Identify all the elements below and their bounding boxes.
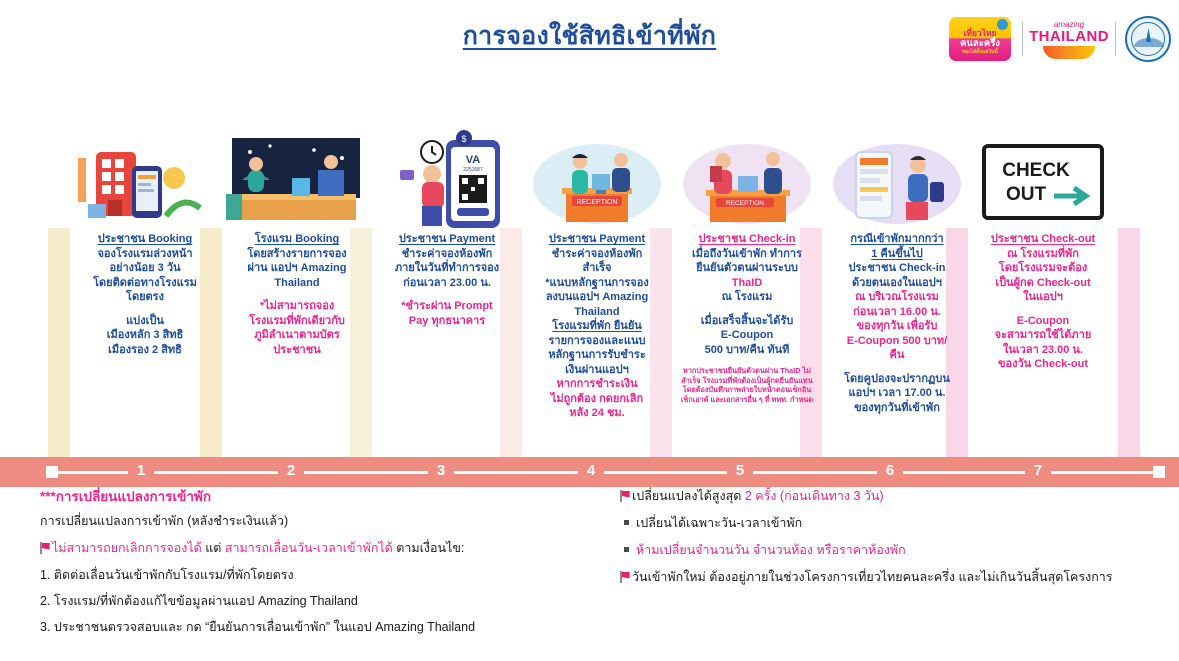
amazing-smile-icon [1043, 46, 1095, 59]
amazing-thailand-logo: amazing THAILAND [1032, 16, 1106, 62]
column-6-heading-line-1: กรณีเข้าพักมากกว่า [822, 232, 972, 247]
column-2-line-6: โรงแรมที่พักเดียวกับ [222, 314, 372, 329]
column-7-spacer [968, 305, 1118, 314]
footer-list-item-2: 2. โรงแรม/ที่พักต้องแก้ไขข้อมูลผ่านแอป A… [40, 592, 610, 610]
column-7-line-2: โดยโรงแรมจะต้อง [968, 261, 1118, 276]
column-7-line-7: จะสามารถใช้ได้ภาย [968, 328, 1118, 343]
column-2-line-7: ภูมิลำเนาตามบัตร [222, 328, 372, 343]
max-change-label: เปลี่ยนแปลงได้สูงสุด [632, 489, 745, 503]
column-4-line-6: โรงแรมที่พัก ยืนยัน [522, 319, 672, 334]
column-7-line-4: ในแอปฯ [968, 290, 1118, 305]
column-3-line-1: ชำระค่าจองห้องพัก [372, 247, 522, 262]
svg-text:$: $ [461, 134, 466, 144]
column-7-line-9: ของวัน Check-out [968, 357, 1118, 372]
timeline-segment-6 [753, 471, 877, 474]
column-7: ประชาชน Check-outณ โรงแรมที่พักโดยโรงแรม… [968, 232, 1118, 372]
column-6-line-1: ประชาชน Check-in [822, 261, 972, 276]
column-1-heading: ประชาชน Booking [70, 232, 220, 247]
multi-night-stay-app-icon [822, 118, 972, 230]
column-5-line-2: ยืนยันตัวตนผ่านระบบ [672, 261, 822, 276]
footer-left-column: ***การเปลี่ยนแปลงการเข้าพัก การเปลี่ยนแป… [40, 487, 610, 644]
timeline-segment-5 [604, 471, 727, 474]
header: การจองใช้สิทธิเข้าที่พัก เที่ยวไทย คนละค… [0, 0, 1179, 80]
svg-text:OUT: OUT [1006, 184, 1047, 205]
footer: ***การเปลี่ยนแปลงการเข้าพัก การเปลี่ยนแป… [0, 487, 1179, 661]
timeline-segment-3 [304, 471, 428, 474]
footer-right-column: เปลี่ยนแปลงได้สูงสุด 2 ครั้ง (ก่อนเดินทา… [620, 487, 1165, 595]
footer-condition-line: ไม่สามารถยกเลิกการจองได้ แต่ สามารถเลื่อ… [40, 539, 610, 557]
column-4-line-12: หลัง 24 ชม. [522, 406, 672, 421]
column-2-spacer [222, 290, 372, 299]
column-5: ประชาชน Check-inเมื่อถึงวันเข้าพัก ทำการ… [672, 232, 822, 404]
footer-list-item-1: 1. ติดต่อเลื่อนวันเข้าพักกับโรงแรม/ที่พั… [40, 566, 610, 584]
timeline-segment-2 [154, 471, 278, 474]
timeline-step-3[interactable]: 3 [429, 462, 453, 479]
timeline-bar: 1234567 [0, 457, 1179, 487]
no-change-count-text: ห้ามเปลี่ยนจำนวนวัน จำนวนห้อง หรือราคาห้… [636, 543, 906, 557]
flag-icon-2 [620, 490, 631, 502]
column-3-heading-line-1: ประชาชน Payment [372, 232, 522, 247]
column-7-line-6: E-Coupon [968, 314, 1118, 329]
column-1-line-3: โดยติดต่อทางโรงแรม [70, 276, 220, 291]
column-6-line-11: ของทุกวันที่เข้าพัก [822, 401, 972, 416]
logo-divider-2 [1115, 22, 1116, 56]
column-1: ประชาชน Bookingจองโรงแรมล่วงหน้าอย่างน้อ… [70, 232, 220, 357]
timeline-segment-1 [58, 471, 128, 474]
timeline-step-1[interactable]: 1 [129, 462, 153, 479]
column-6-line-3: ณ บริเวณโรงแรม [822, 290, 972, 305]
column-3: ประชาชน Paymentชำระค่าจองห้องพักภายในวัน… [372, 232, 522, 328]
column-3-line-2: ภายในวันที่ทำการจอง [372, 261, 522, 276]
timeline-segment-4 [454, 471, 578, 474]
column-4-line-1: ชำระค่าจองห้องพัก [522, 247, 672, 262]
column-4-heading-line-1: ประชาชน Payment [522, 232, 672, 247]
column-3-line-6: Pay ทุกธนาคาร [372, 314, 522, 329]
footer-right-line-2: เปลี่ยนได้เฉพาะวัน-เวลาเข้าพัก [620, 514, 1165, 532]
column-5-footnote: หากประชาชนยืนยันตัวตนผ่าน ThaID ไม่สำเร็… [672, 366, 822, 404]
column-4-line-2: สำเร็จ [522, 261, 672, 276]
footer-right-line-4: วันเข้าพักใหม่ ต้องอยู่ภายในช่วงโครงการเ… [620, 568, 1165, 586]
column-6-spacer [822, 363, 972, 372]
column-5-fine-spacer [672, 357, 822, 366]
new-stay-date-text: วันเข้าพักใหม่ ต้องอยู่ภายในช่วงโครงการเ… [632, 570, 1113, 584]
kld-logo-line3: จองได้ตั้งแต่วันนี้ [962, 49, 998, 56]
column-5-spacer [672, 305, 822, 314]
timeline-start-marker [46, 466, 58, 478]
footer-title: ***การเปลี่ยนแปลงการเข้าพัก [40, 487, 610, 507]
column-4-line-8: หลักฐานการรับชำระ [522, 348, 672, 363]
timeline-inner: 1234567 [0, 457, 1179, 487]
column-6-line-9: โดยคูปองจะปรากฏบน [822, 372, 972, 387]
column-6-line-6: E-Coupon 500 บาท/ [822, 334, 972, 349]
timeline-step-5[interactable]: 5 [728, 462, 752, 479]
column-2-line-3: Thailand [222, 276, 372, 291]
column-4: ประชาชน Paymentชำระค่าจองห้องพักสำเร็จ*แ… [522, 232, 672, 421]
kon-la-krueng-logo: เที่ยวไทย คนละครึ่ง จองได้ตั้งแต่วันนี้ [947, 15, 1013, 63]
column-2-heading: โรงแรม Booking [222, 232, 372, 247]
logo-group: เที่ยวไทย คนละครึ่ง จองได้ตั้งแต่วันนี้ … [947, 8, 1171, 70]
column-4-line-5: Thailand [522, 305, 672, 320]
column-2-line-2: ผ่าน แอปฯ Amazing [222, 261, 372, 276]
column-4-line-11: ไม่ถูกต้อง กดยกเลิก [522, 392, 672, 407]
cannot-cancel-text: ไม่สามารถยกเลิกการจองได้ [52, 541, 202, 555]
column-4-line-3: *แนบหลักฐานการจอง [522, 276, 672, 291]
column-2: โรงแรม Bookingโดยสร้างรายการจองผ่าน แอปฯ… [222, 232, 372, 357]
tat-logo-ring [1131, 22, 1165, 56]
timeline-step-6[interactable]: 6 [878, 462, 902, 479]
column-2-line-8: ประชาชน [222, 343, 372, 358]
hotel-booking-phone-icon [70, 118, 220, 230]
flag-icon [40, 542, 51, 554]
flag-icon-3 [620, 571, 631, 583]
bullet-square-icon [624, 520, 629, 525]
mobile-qr-payment-icon: VA 2251687 $ [372, 118, 522, 230]
column-1-spacer [70, 305, 220, 314]
column-6-line-5: ของทุกวัน เพื่อรับ [822, 319, 972, 334]
svg-text:RECEPTION: RECEPTION [726, 200, 764, 207]
can-postpone-text: สามารถเลื่อนวัน-เวลาเข้าพักได้ [225, 541, 393, 555]
column-7-heading: ประชาชน Check-out [968, 232, 1118, 247]
footer-right-line-3: ห้ามเปลี่ยนจำนวนวัน จำนวนห้อง หรือราคาห้… [620, 541, 1165, 559]
column-5-line-8: 500 บาท/คืน ทันที [672, 343, 822, 358]
column-7-heading-line-1: ประชาชน Check-out [968, 232, 1118, 247]
column-3-line-5: *ชำระผ่าน Prompt [372, 299, 522, 314]
column-3-heading: ประชาชน Payment [372, 232, 522, 247]
column-5-line-3: ThaID [672, 276, 822, 291]
column-5-line-6: เมื่อเสร็จสิ้นจะได้รับ [672, 314, 822, 329]
hotel-reception-desk-icon [222, 118, 372, 230]
change-date-time-text: เปลี่ยนได้เฉพาะวัน-เวลาเข้าพัก [636, 516, 802, 530]
column-4-line-9: เงินผ่านแอปฯ [522, 363, 672, 378]
column-6-line-7: คืน [822, 348, 972, 363]
tat-wave-icon [1134, 38, 1164, 47]
conditions-text: ตามเงื่อนไข: [393, 541, 465, 555]
max-change-value: 2 ครั้ง (ก่อนเดินทาง 3 วัน) [745, 489, 884, 503]
footer-list-item-3: 3. ประชาชนตรวจสอบและ กด “ยืนยันการเลื่อน… [40, 618, 610, 636]
column-5-heading: ประชาชน Check-in [672, 232, 822, 247]
column-5-line-4: ณ โรงแรม [672, 290, 822, 305]
column-6-line-10: แอปฯ เวลา 17.00 น. [822, 386, 972, 401]
column-6-line-2: ด้วยตนเองในแอปฯ [822, 276, 972, 291]
column-1-line-2: อย่างน้อย 3 วัน [70, 261, 220, 276]
column-7-line-3: เป็นผู้กด Check-out [968, 276, 1118, 291]
column-1-line-4: โดยตรง [70, 290, 220, 305]
column-1-heading-line-1: ประชาชน Booking [70, 232, 220, 247]
column-6-heading: กรณีเข้าพักมากกว่า1 คืนขึ้นไป [822, 232, 972, 261]
reception-counter-icon: RECEPTION [522, 118, 672, 230]
column-1-line-1: จองโรงแรมล่วงหน้า [70, 247, 220, 262]
column-4-heading: ประชาชน Payment [522, 232, 672, 247]
svg-text:2251687: 2251687 [463, 167, 483, 173]
footer-subtitle: การเปลี่ยนแปลงการเข้าพัก (หลังชำระเงินแล… [40, 512, 610, 530]
svg-text:RECEPTION: RECEPTION [577, 199, 618, 206]
column-4-line-10: หากการชำระเงิน [522, 377, 672, 392]
hotel-checkin-desk-icon: RECEPTION [672, 118, 822, 230]
column-5-line-1: เมื่อถึงวันเข้าพัก ทำการ [672, 247, 822, 262]
column-7-line-8: ในเวลา 23.00 น. [968, 343, 1118, 358]
svg-text:CHECK: CHECK [1002, 160, 1070, 181]
column-6: กรณีเข้าพักมากกว่า1 คืนขึ้นไปประชาชน Che… [822, 232, 972, 415]
footer-right-line-1: เปลี่ยนแปลงได้สูงสุด 2 ครั้ง (ก่อนเดินทา… [620, 487, 1165, 505]
column-7-line-1: ณ โรงแรมที่พัก [968, 247, 1118, 262]
column-1-line-6: แบ่งเป็น [70, 314, 220, 329]
column-5-heading-line-1: ประชาชน Check-in [672, 232, 822, 247]
column-6-heading-line-2: 1 คืนขึ้นไป [822, 247, 972, 262]
tat-logo [1125, 16, 1171, 62]
column-2-heading-line-1: โรงแรม Booking [222, 232, 372, 247]
check-out-sign-icon: CHECK OUT [968, 118, 1118, 230]
luggage-tag-icon [997, 19, 1008, 30]
column-2-line-5: *ไม่สามารถจอง [222, 299, 372, 314]
timeline-segment-7 [903, 471, 1025, 474]
column-1-line-7: เมืองหลัก 3 สิทธิ [70, 328, 220, 343]
illustration-row: VA 2251687 $ RECEPTION RECEPTION [0, 118, 1179, 230]
timeline-segment-end [1051, 471, 1165, 474]
column-3-spacer [372, 290, 522, 299]
svg-text:VA: VA [466, 154, 481, 166]
column-4-line-4: ลงบนแอปฯ Amazing [522, 290, 672, 305]
but-text: แต่ [202, 541, 225, 555]
kld-logo-line1: เที่ยวไทย [963, 28, 996, 38]
amazing-logo-big: THAILAND [1029, 29, 1109, 45]
column-3-line-3: ก่อนเวลา 23.00 น. [372, 276, 522, 291]
infographic-page: การจองใช้สิทธิเข้าที่พัก เที่ยวไทย คนละค… [0, 0, 1179, 661]
kld-logo-line2: คนละครึ่ง [960, 38, 1000, 49]
column-1-line-8: เมืองรอง 2 สิทธิ [70, 343, 220, 358]
column-2-line-1: โดยสร้างรายการจอง [222, 247, 372, 262]
column-5-line-7: E-Coupon [672, 328, 822, 343]
bullet-square-icon-2 [624, 547, 629, 552]
logo-divider [1022, 22, 1023, 56]
timeline-step-4[interactable]: 4 [579, 462, 603, 479]
column-4-line-7: รายการจองและแนบ [522, 334, 672, 349]
column-6-line-4: ก่อนเวลา 16.00 น. [822, 305, 972, 320]
timeline-step-2[interactable]: 2 [279, 462, 303, 479]
timeline-step-7[interactable]: 7 [1026, 462, 1050, 479]
